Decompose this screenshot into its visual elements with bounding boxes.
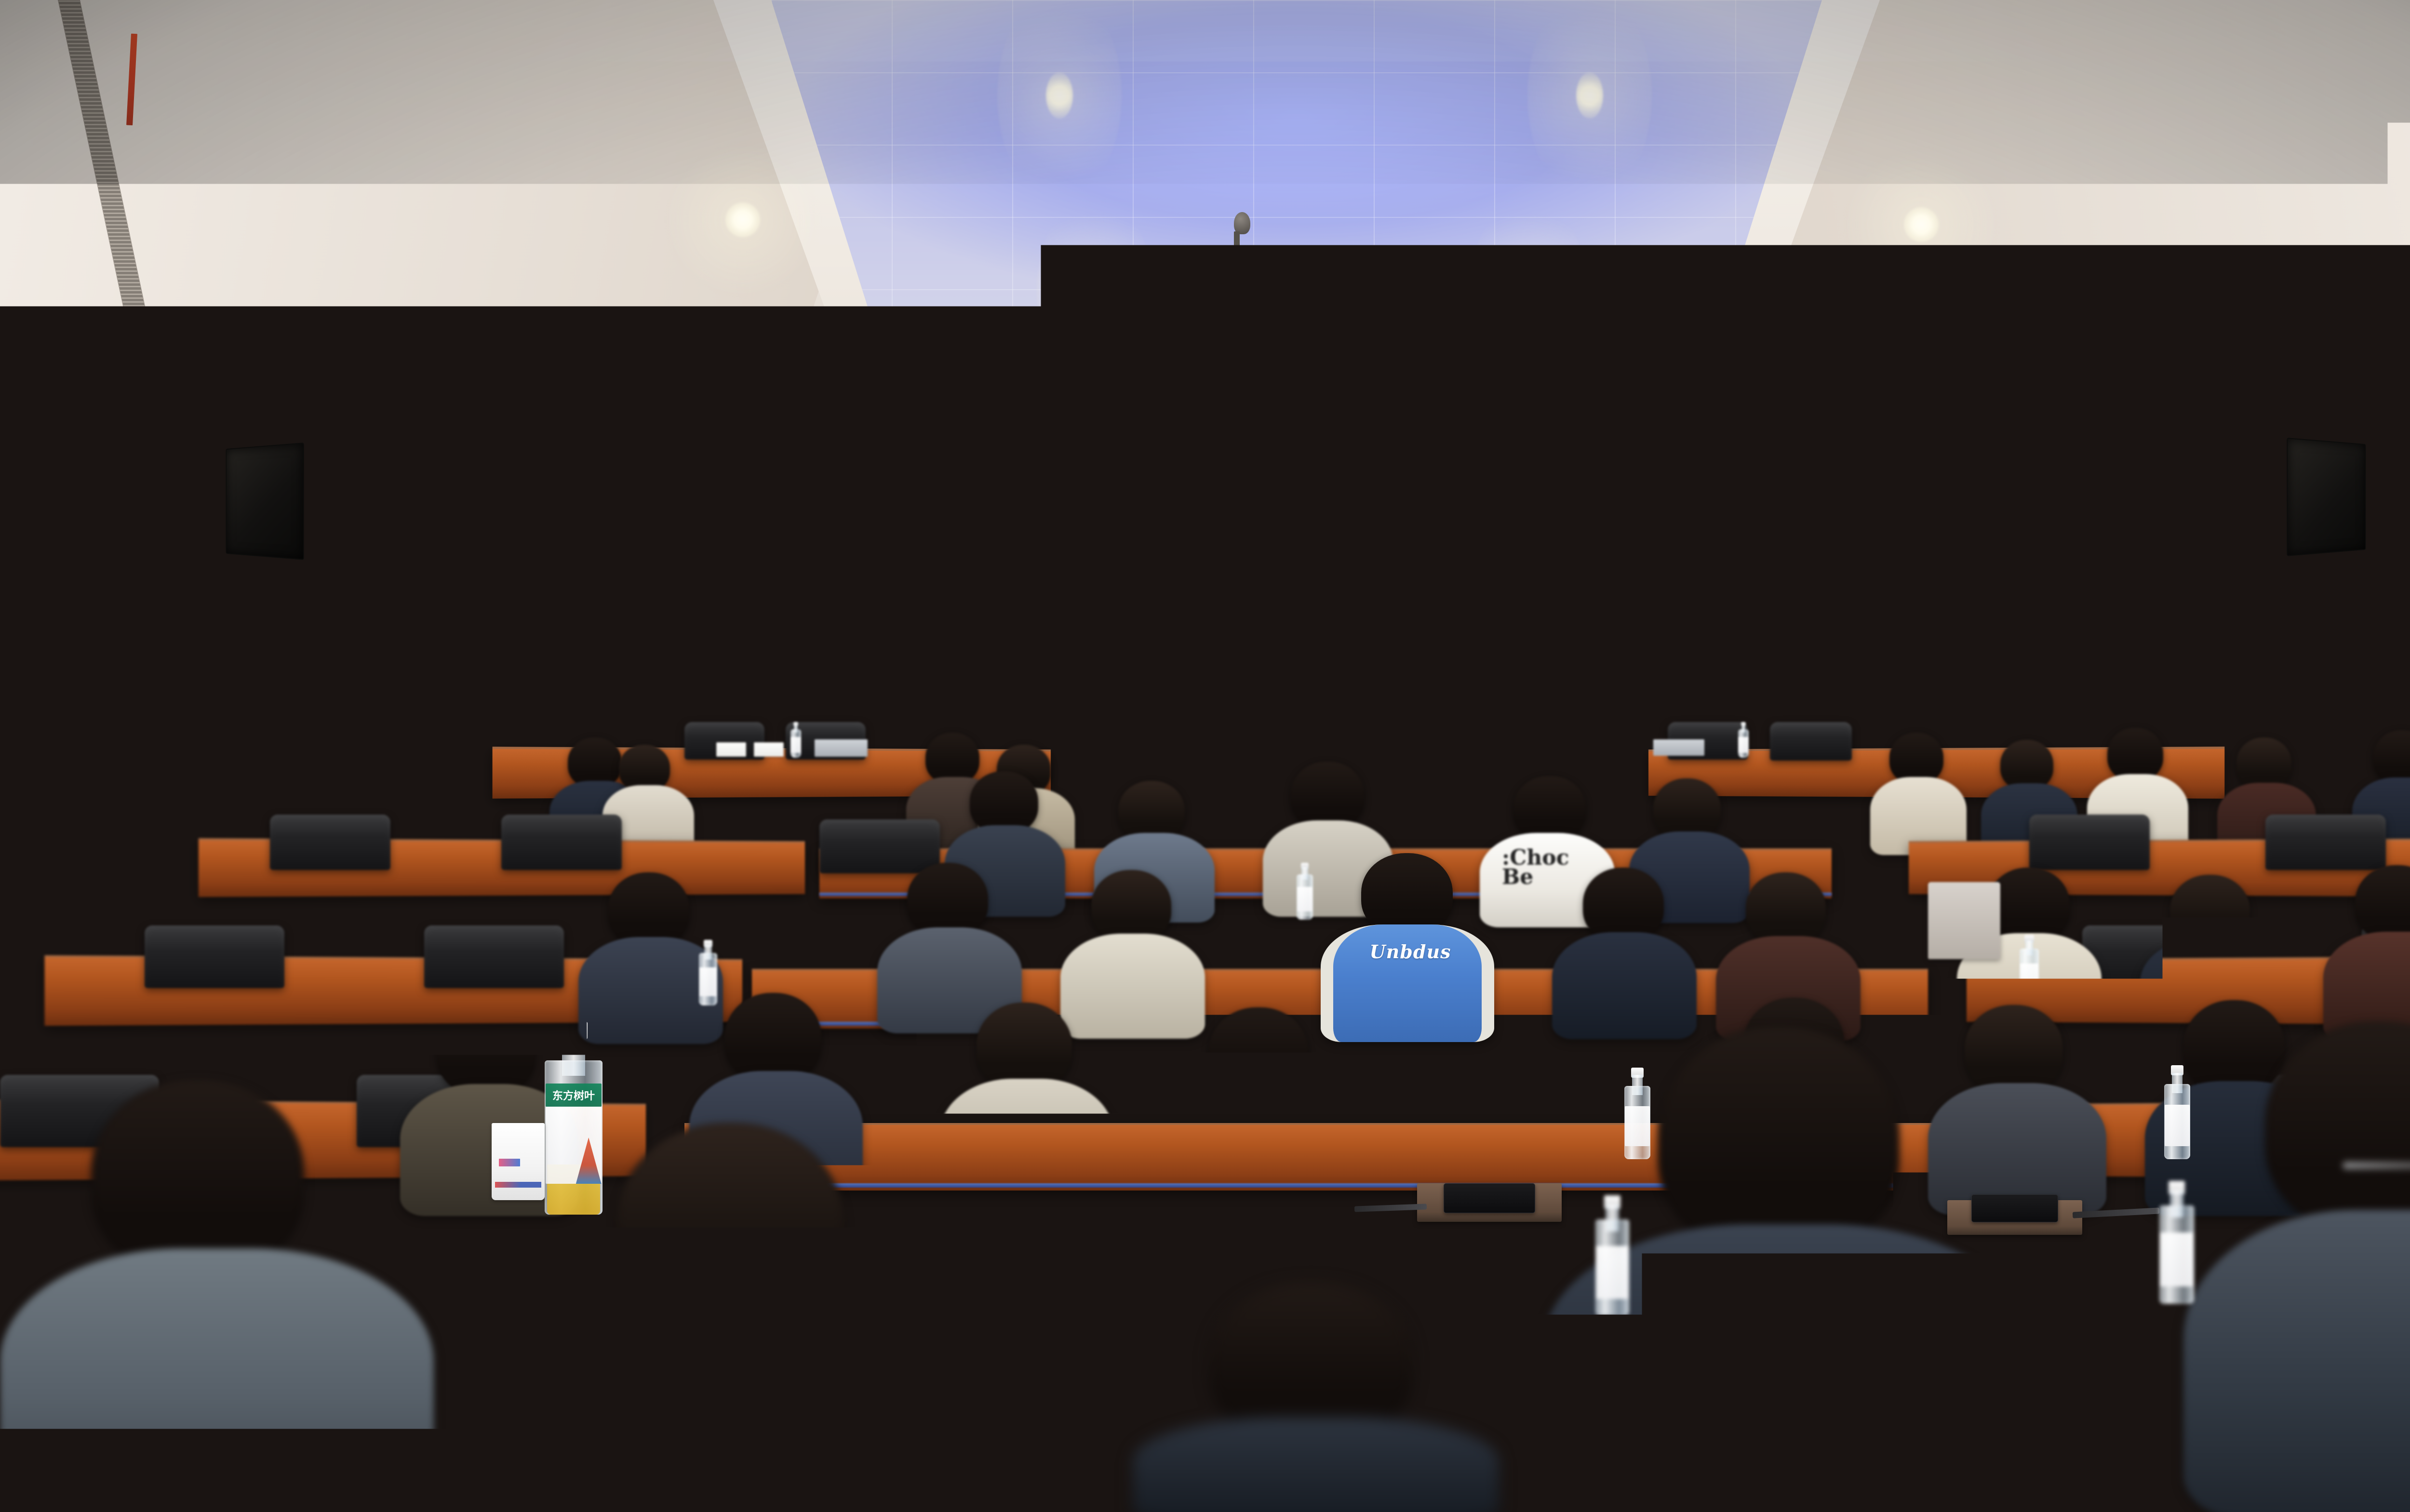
nameplate-right	[1498, 731, 1531, 747]
tea-bottle-brand-text: 东方树叶	[545, 1087, 602, 1103]
chair[interactable]	[2029, 815, 2150, 870]
foreground-attendee-bottom	[1133, 1282, 1499, 1512]
door-left[interactable]	[381, 501, 482, 762]
microphone-head-right	[1492, 703, 1501, 711]
downlight-icon	[622, 533, 648, 559]
sprinkler-icon	[374, 709, 385, 723]
chair[interactable]	[424, 925, 564, 988]
attendee	[1552, 868, 1697, 1031]
exit-sign-left	[328, 472, 384, 501]
chair[interactable]	[270, 815, 390, 870]
projection-screen-surface: 湖南轨道 HNRT 湖南轨道交通控股集团有限公司 2024-2025年度新入职员…	[1012, 458, 1620, 714]
sweater-text-line-2: Be	[1502, 865, 1533, 889]
slide-title-line-1: 湖南轨道交通控股集团有限公司	[1012, 545, 1620, 580]
sprinkler-icon	[1870, 518, 1883, 535]
attendee	[1870, 733, 1967, 848]
wall-speaker-right	[2287, 438, 2366, 556]
exit-sign-right: 安全出口 EXIT	[1938, 492, 2010, 518]
sprinkler-stem	[718, 523, 723, 552]
foreground-attendee-left	[0, 1080, 434, 1512]
foreground-attendee-right	[2183, 1022, 2410, 1512]
logo-cn-name: 湖南轨道	[1108, 479, 1172, 491]
exit-sign-label: EXIT	[1988, 501, 2003, 508]
speaker-bracket-right	[2362, 506, 2405, 519]
conference-room-photo: 湖南轨道 HNRT 湖南轨道交通控股集团有限公司 2024-2025年度新入职员…	[0, 0, 2410, 1512]
tote-bag	[1928, 882, 2000, 959]
projector-drop-rod	[1234, 231, 1240, 265]
downlight-icon	[1082, 270, 1107, 312]
smartphone[interactable]	[1444, 1183, 1535, 1213]
water-bottle[interactable]	[790, 722, 801, 758]
ceiling-grid-lines	[771, 0, 1822, 337]
attendee	[2323, 865, 2410, 1034]
door-handle-icon	[469, 617, 473, 651]
presenter-left	[1191, 692, 1282, 760]
nameplate	[754, 742, 784, 757]
logo-en-name: HNRT	[1108, 493, 1172, 513]
foreground-attendee-left-2	[506, 1123, 988, 1512]
wall-edge-left	[0, 434, 120, 771]
water-bottle[interactable]	[1595, 1195, 1629, 1316]
downlight-icon	[1516, 270, 1541, 312]
laptop[interactable]	[1653, 739, 1704, 756]
chair[interactable]	[501, 815, 622, 870]
downlight-icon	[1750, 424, 1773, 447]
microphone-head-left	[1247, 703, 1256, 711]
door-handle-icon-2	[1975, 617, 1979, 651]
hr-monogram-icon	[1045, 481, 1101, 511]
laptop[interactable]	[815, 739, 868, 757]
downlight-icon	[1311, 424, 1334, 447]
running-man-icon	[1973, 498, 1986, 511]
potted-plant-left	[752, 631, 863, 737]
attendee	[877, 863, 1022, 1027]
wall-speaker-left	[226, 442, 304, 560]
downlight-icon	[1046, 72, 1073, 119]
jacket-back-text: Unbdus	[1352, 941, 1468, 963]
eyeglasses-icon	[2343, 1162, 2410, 1169]
exit-sign-cn-label: 安全出口	[1945, 500, 1971, 509]
green-cross-icon	[345, 477, 367, 496]
water-bottle[interactable]	[2159, 1181, 2194, 1304]
downlight-icon	[725, 202, 760, 237]
downlight-icon	[1576, 72, 1603, 119]
chair[interactable]	[2265, 815, 2386, 870]
attendee	[1171, 1007, 1350, 1210]
potted-plant-right	[1764, 619, 1885, 735]
water-bottle[interactable]	[1297, 863, 1313, 920]
downlight-icon	[381, 366, 411, 396]
slide-stripe-white	[1012, 692, 1353, 698]
water-bottle[interactable]	[2020, 935, 2039, 1003]
chair[interactable]	[1770, 722, 1852, 761]
downlight-icon	[2251, 366, 2281, 396]
nameplate-left	[1256, 731, 1288, 747]
slide-title-line-2: 2024-2025年度新入职员工培训	[1012, 599, 1620, 634]
downlight-icon	[1904, 207, 1939, 242]
downlight-icon	[889, 424, 912, 447]
attendee	[34, 737, 135, 853]
company-logo: 湖南轨道 HNRT	[1045, 479, 1172, 513]
smartphone[interactable]	[1142, 1200, 1219, 1227]
nameplate	[716, 742, 746, 757]
head-table-edge	[1075, 739, 1634, 746]
chair[interactable]	[145, 925, 284, 988]
ceiling-diffuser-left	[101, 569, 193, 598]
water-bottle[interactable]	[1738, 722, 1749, 758]
projection-screen[interactable]: 湖南轨道 HNRT 湖南轨道交通控股集团有限公司 2024-2025年度新入职员…	[1005, 451, 1627, 721]
door-left-2[interactable]	[487, 501, 588, 762]
pen[interactable]	[1354, 1204, 1427, 1212]
